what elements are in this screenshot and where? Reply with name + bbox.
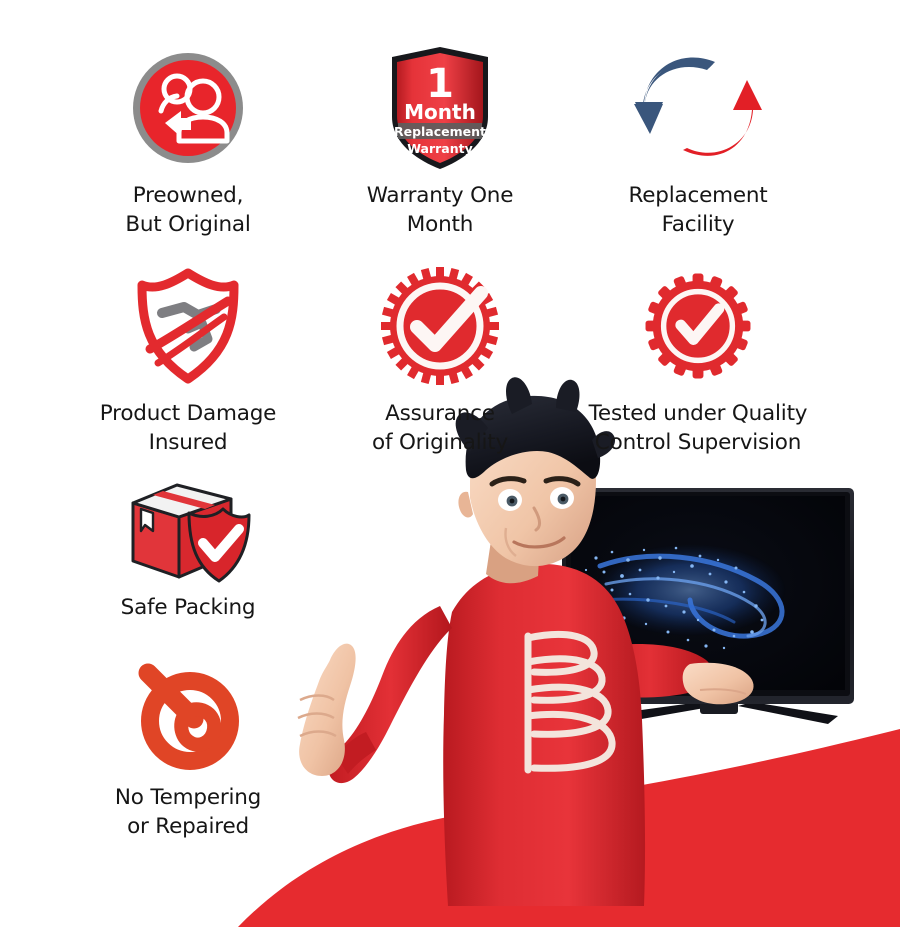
replacement-arrows-icon bbox=[633, 48, 763, 168]
feature-tested-under-quality-control[interactable]: Tested under Quality Control Supervision bbox=[548, 252, 848, 457]
package-shield-icon bbox=[123, 469, 253, 587]
assurance-check-starburst-icon-wrap bbox=[290, 252, 590, 400]
feature-warranty-one-month[interactable]: 1 Month Replacement Warranty Warranty On… bbox=[290, 34, 590, 239]
feature-replacement-facility[interactable]: Replacement Facility bbox=[548, 34, 848, 239]
warranty-badge-line2: Warranty bbox=[407, 141, 473, 156]
no-tampering-wrench-icon-wrap bbox=[38, 652, 338, 784]
feature-assurance-of-originality[interactable]: Assurance of Originality bbox=[290, 252, 590, 457]
flat-screen-tv bbox=[562, 488, 854, 724]
feature-label: Assurance of Originality bbox=[290, 400, 590, 457]
quality-check-starburst-icon bbox=[641, 269, 755, 383]
warranty-shield-badge-icon-wrap: 1 Month Replacement Warranty bbox=[290, 34, 590, 182]
feature-label: Safe Packing bbox=[38, 594, 338, 623]
replacement-arrows-icon-wrap bbox=[548, 34, 848, 182]
damage-shield-icon bbox=[128, 267, 248, 385]
warranty-badge-line1: Replacement bbox=[394, 124, 486, 139]
feature-label: Replacement Facility bbox=[548, 182, 848, 239]
assurance-check-starburst-icon bbox=[377, 263, 503, 389]
feature-safe-packing[interactable]: Safe Packing bbox=[38, 462, 338, 623]
package-shield-icon-wrap bbox=[38, 462, 338, 594]
feature-label: No Tempering or Repaired bbox=[38, 784, 338, 841]
feature-no-tempering-or-repaired[interactable]: No Tempering or Repaired bbox=[38, 652, 338, 841]
tv-wallpaper-swirl bbox=[579, 544, 786, 649]
mascot-chest-logo bbox=[528, 634, 612, 770]
warranty-shield-badge-icon: 1 Month Replacement Warranty bbox=[382, 43, 498, 173]
promo-poster: Preowned, But Original bbox=[0, 0, 900, 927]
feature-label: Tested under Quality Control Supervision bbox=[548, 400, 848, 457]
warranty-badge-period: Month bbox=[404, 100, 476, 124]
no-tampering-wrench-icon bbox=[128, 659, 248, 777]
quality-check-starburst-icon-wrap bbox=[548, 252, 848, 400]
preowned-user-exchange-icon bbox=[129, 49, 247, 167]
feature-label: Warranty One Month bbox=[290, 182, 590, 239]
